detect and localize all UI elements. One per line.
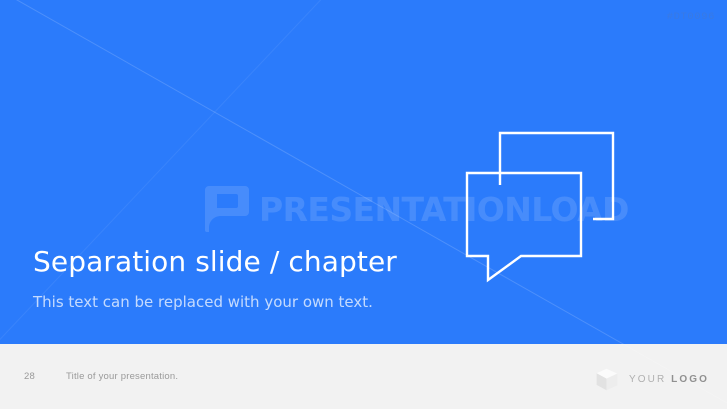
footer-presentation-title: Title of your presentation. <box>66 371 178 382</box>
footer-logo-word-2: LOGO <box>671 374 709 385</box>
presentation-slide: #DT0096 PRESENTATIONLOAD Separation slid… <box>0 0 727 409</box>
footer-logo: YOUR LOGO <box>593 366 709 393</box>
cube-icon <box>593 366 620 393</box>
footer-logo-word-1: YOUR <box>629 374 666 385</box>
back-speech-bubble-icon <box>500 133 613 219</box>
page-title: Separation slide / chapter <box>33 245 593 279</box>
footer-page-number: 28 <box>24 371 35 382</box>
page-subtitle: This text can be replaced with your own … <box>33 293 593 313</box>
slide-code-label: #DT0096 <box>667 11 715 23</box>
headline-block: Separation slide / chapter This text can… <box>33 245 593 312</box>
footer-logo-text: YOUR LOGO <box>629 374 709 385</box>
